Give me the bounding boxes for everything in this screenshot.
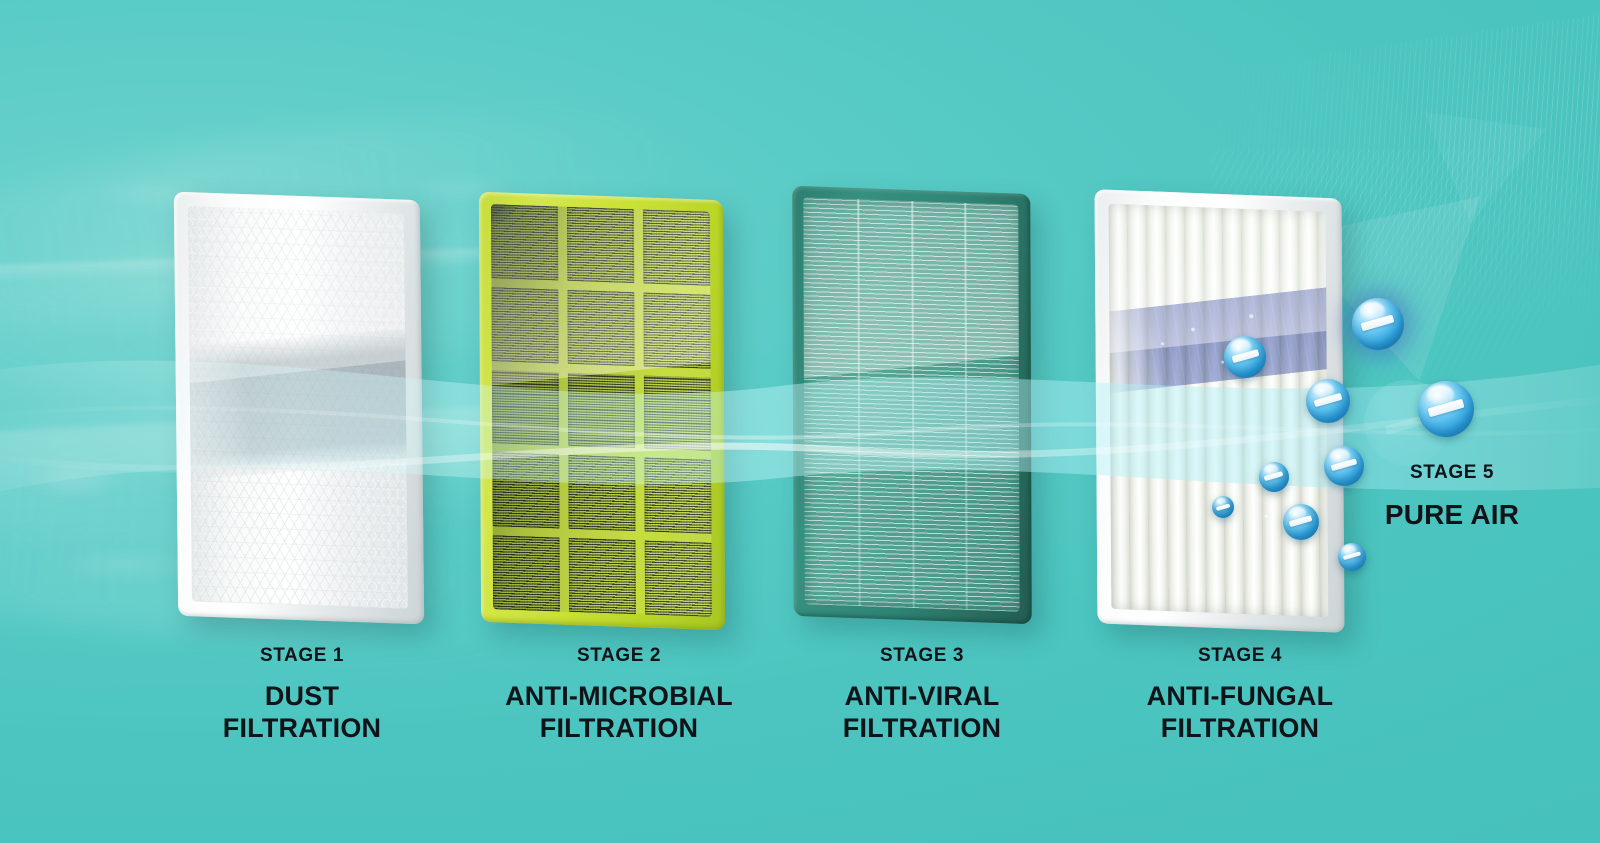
background-arrow-secondary-icon — [1409, 112, 1546, 232]
filter-panel-stage-4[interactable] — [1094, 189, 1344, 633]
ion-bubble-2 — [1306, 379, 1350, 423]
caption-stage-5: STAGE 5 PURE AIR — [1332, 462, 1572, 531]
stage-label: STAGE 2 — [469, 645, 769, 667]
caption-stage-1: STAGE 1 DUST FILTRATION — [152, 645, 452, 745]
panel-gloss-diagonal — [491, 204, 712, 387]
filter-panel-stage-3[interactable] — [792, 186, 1031, 624]
filter-panel-stage-1[interactable] — [174, 192, 424, 625]
panel-frame-teal — [792, 186, 1031, 624]
panel-frame-white — [174, 192, 424, 625]
stage-label: STAGE 4 — [1090, 645, 1390, 667]
minus-icon — [1313, 393, 1342, 408]
minus-icon — [1231, 349, 1259, 363]
stage-title: PURE AIR — [1332, 498, 1572, 531]
ion-bubble-1 — [1224, 336, 1266, 378]
stage-label: STAGE 3 — [772, 645, 1072, 667]
stage-title: ANTI-FUNGAL FILTRATION — [1090, 681, 1390, 745]
filtration-stages-infographic: STAGE 1 DUST FILTRATION STAGE 2 ANTI-MIC… — [0, 0, 1600, 843]
pleated-media — [1109, 204, 1329, 617]
minus-icon — [1289, 515, 1313, 527]
grid-mesh-media — [491, 204, 712, 617]
ion-bubble-7 — [1338, 543, 1366, 571]
minus-icon — [1428, 399, 1465, 417]
caption-stage-3: STAGE 3 ANTI-VIRAL FILTRATION — [772, 645, 1072, 745]
caption-stage-4: STAGE 4 ANTI-FUNGAL FILTRATION — [1090, 645, 1390, 745]
stage-label: STAGE 5 — [1332, 462, 1572, 484]
minus-icon — [1343, 552, 1361, 561]
stage-title: DUST FILTRATION — [152, 681, 452, 745]
panel-gloss-diagonal — [803, 197, 1019, 380]
panel-frame-lime — [479, 192, 725, 631]
minus-icon — [1264, 471, 1284, 481]
line-mesh-media — [803, 197, 1019, 612]
ion-bubble-6 — [1283, 504, 1319, 540]
ion-bubble-5 — [1212, 496, 1234, 518]
ion-bubble-9 — [1418, 381, 1474, 437]
panel-gloss-diagonal — [1109, 204, 1329, 354]
stage-title: ANTI-VIRAL FILTRATION — [772, 681, 1072, 745]
honeycomb-media — [188, 206, 408, 609]
ion-bubble-8 — [1352, 298, 1404, 350]
panel-gloss-diagonal — [188, 206, 408, 384]
minus-icon — [1216, 503, 1231, 510]
ion-bubble-4 — [1259, 462, 1289, 492]
panel-frame-white — [1094, 189, 1344, 633]
filter-panel-stage-2[interactable] — [479, 192, 725, 631]
caption-stage-2: STAGE 2 ANTI-MICROBIAL FILTRATION — [469, 645, 769, 745]
minus-icon — [1361, 314, 1395, 331]
stage-label: STAGE 1 — [152, 645, 452, 667]
stage-title: ANTI-MICROBIAL FILTRATION — [469, 681, 769, 745]
